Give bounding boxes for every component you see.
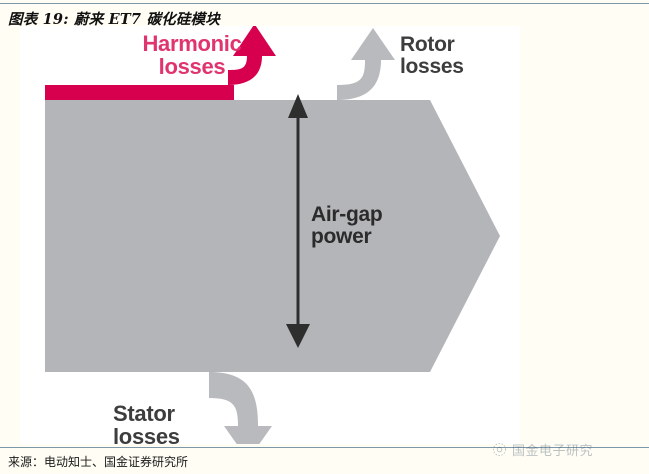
power-flow-body-shape — [45, 100, 500, 372]
rotor-losses-label: Rotor losses — [400, 34, 464, 79]
source-note: 来源：电动知士、国金证券研究所 — [8, 453, 188, 470]
top-divider — [0, 3, 649, 4]
stator-loss-arrowhead-icon — [224, 426, 272, 444]
stator-loss-arrow-icon — [209, 372, 258, 434]
watermark: 国金电子研究 — [492, 440, 593, 459]
figure-page: 图表 19: 蔚来 ET7 碳化硅模块 — [0, 0, 649, 474]
stator-losses-label: Stator losses — [113, 402, 180, 444]
brand-logo-icon — [492, 442, 507, 457]
air-gap-power-label: Air-gap power — [311, 204, 382, 249]
harmonic-losses-label: Harmonic losses — [122, 32, 262, 79]
figure-canvas: Harmonic losses Rotor losses Air-gap pow… — [0, 26, 649, 444]
harmonic-loss-bar — [45, 85, 234, 100]
rotor-loss-arrowhead-icon — [351, 28, 395, 60]
watermark-text: 国金电子研究 — [512, 440, 593, 459]
